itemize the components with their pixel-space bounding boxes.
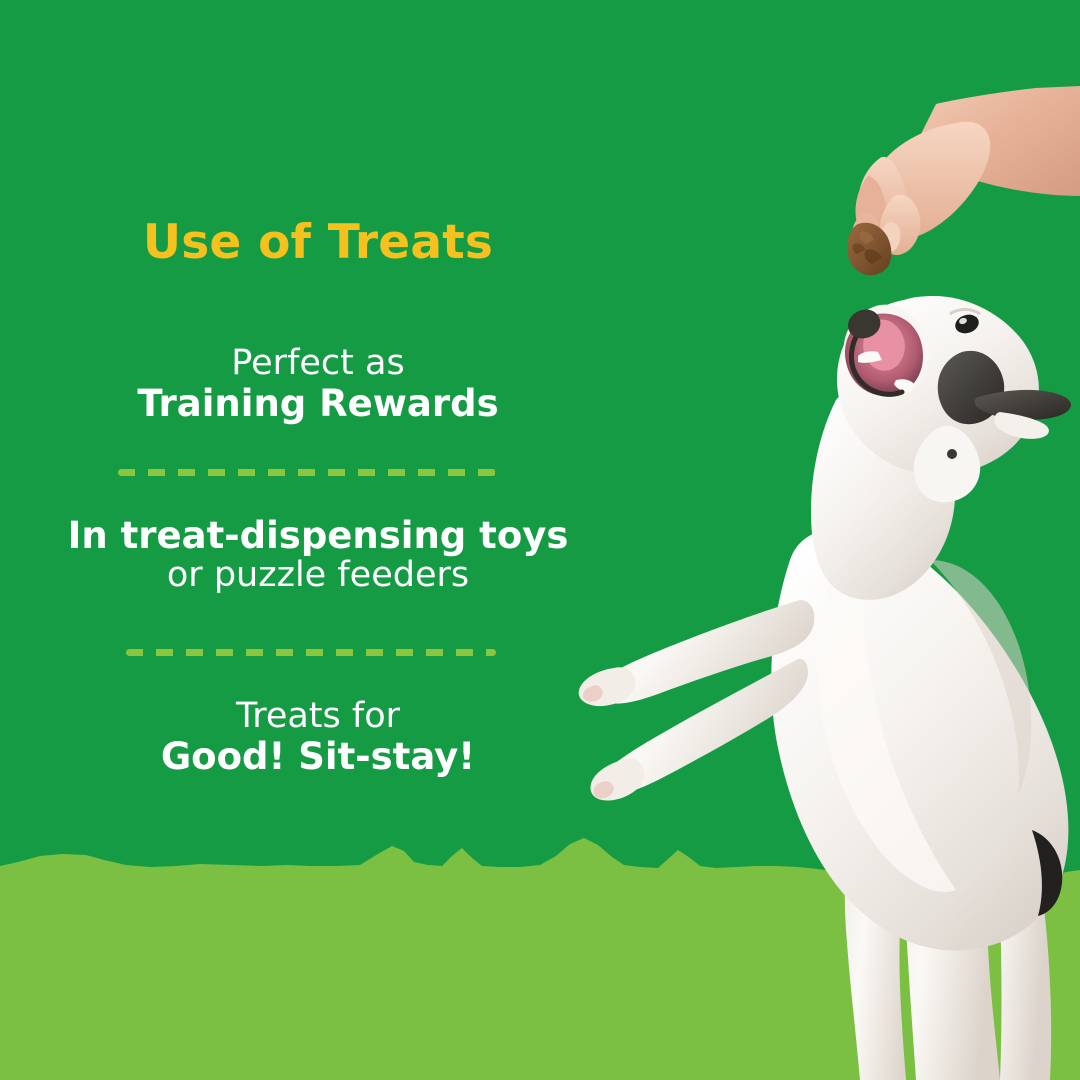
text-column: Use of Treats Perfect as Training Reward… xyxy=(0,0,636,1080)
page-title: Use of Treats xyxy=(0,219,636,266)
block-2-line-1: In treat-dispensing toys xyxy=(0,515,636,556)
dashed-divider-1 xyxy=(118,469,496,476)
block-3-line-2: Good! Sit-stay! xyxy=(0,736,636,777)
block-2-line-2: or puzzle feeders xyxy=(0,556,636,595)
block-1-line-1: Perfect as xyxy=(0,344,636,383)
text-block-dispensing-toys: In treat-dispensing toys or puzzle feede… xyxy=(0,515,636,596)
block-1-line-2: Training Rewards xyxy=(0,383,636,424)
treats-infographic-poster: Use of Treats Perfect as Training Reward… xyxy=(0,0,1080,1080)
text-block-good-sit-stay: Treats for Good! Sit-stay! xyxy=(0,697,636,778)
dashed-divider-2 xyxy=(126,649,496,656)
text-block-training-rewards: Perfect as Training Rewards xyxy=(0,344,636,425)
block-3-line-1: Treats for xyxy=(0,697,636,736)
